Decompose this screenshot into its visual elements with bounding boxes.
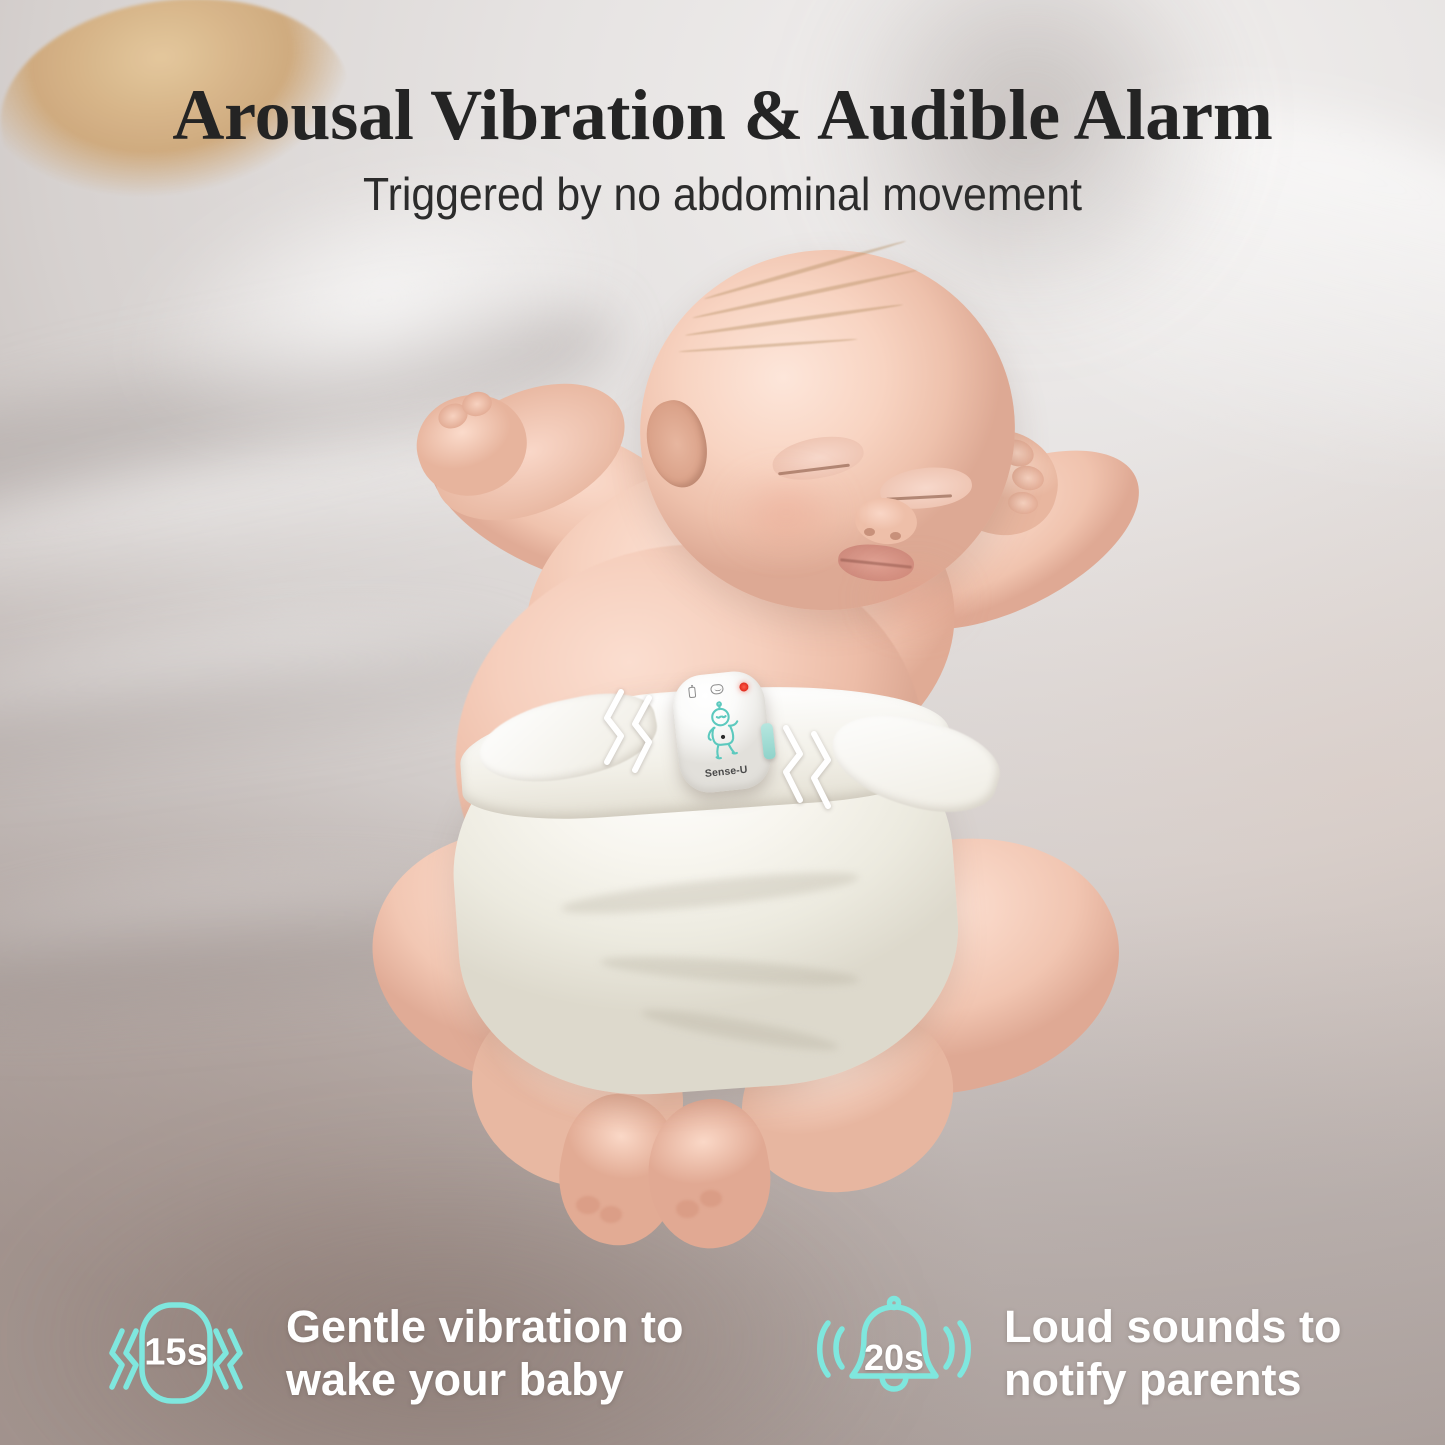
baby-toes — [576, 1196, 600, 1214]
baby-toes — [600, 1206, 622, 1223]
page-title: Arousal Vibration & Audible Alarm — [0, 78, 1445, 153]
baby-toes — [676, 1200, 699, 1218]
alarm-caption: Loud sounds to notify parents — [1004, 1300, 1341, 1406]
vibration-zigzag-left — [601, 688, 663, 780]
feature-list: 15s Gentle vibration to wake your baby — [0, 1295, 1445, 1411]
product-feature-image: Sense-U Arousal Vibration & Audible Alar… — [0, 0, 1445, 1445]
led-indicator-icon — [739, 682, 749, 692]
vibration-caption: Gentle vibration to wake your baby — [286, 1300, 684, 1406]
nostril — [890, 532, 901, 540]
sense-u-monitor-device[interactable]: Sense-U — [670, 669, 774, 796]
nostril — [864, 528, 875, 536]
cloud-icon — [710, 684, 724, 695]
vibration-icon: 15s — [96, 1295, 256, 1411]
cheek-blush — [860, 560, 970, 636]
headline-block: Arousal Vibration & Audible Alarm Trigge… — [0, 78, 1445, 219]
page-subtitle: Triggered by no abdominal movement — [51, 169, 1395, 220]
bell-icon: 20s — [814, 1295, 974, 1411]
battery-icon — [688, 687, 696, 699]
feature-alarm: 20s Loud sounds to notify parents — [796, 1295, 1349, 1411]
device-brand-label: Sense-U — [680, 761, 773, 783]
baby-logo-icon — [690, 697, 754, 765]
vibration-zigzag-right — [772, 722, 834, 814]
baby-toes — [700, 1190, 722, 1207]
cheek-blush — [726, 470, 846, 554]
feature-vibration: 15s Gentle vibration to wake your baby — [96, 1295, 796, 1411]
